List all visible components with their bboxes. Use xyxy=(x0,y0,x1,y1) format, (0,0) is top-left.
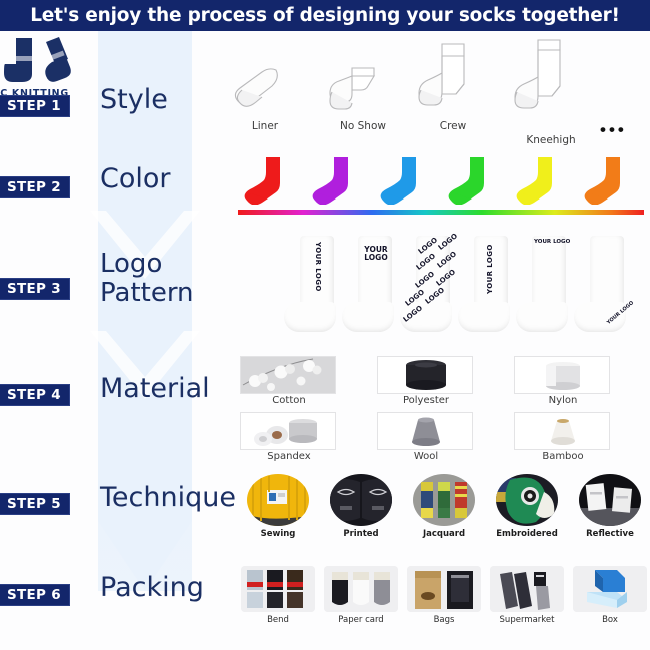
socks-customization-infographic: Let's enjoy the process of designing you… xyxy=(0,0,650,650)
step-row-color: STEP 2 Color xyxy=(0,155,650,217)
banded-socks-icon xyxy=(241,566,315,612)
material-caption: Bamboo xyxy=(514,451,612,462)
color-swatch-green[interactable] xyxy=(442,155,498,205)
color-swatch-orange[interactable] xyxy=(578,155,634,205)
material-option-bamboo[interactable]: Bamboo xyxy=(514,412,612,462)
bags-icon xyxy=(407,566,481,612)
step-label-line1: Logo xyxy=(100,250,194,279)
color-swatch-red[interactable] xyxy=(238,155,294,205)
step-label-style: Style xyxy=(100,86,168,114)
step-badge-1: STEP 1 xyxy=(0,95,70,117)
step-label-logo-pattern: Logo Pattern xyxy=(100,250,194,308)
step-label-line2: Pattern xyxy=(100,279,194,308)
style-caption: Crew xyxy=(418,120,488,132)
style-option-noshow[interactable]: No Show xyxy=(326,56,400,132)
style-option-liner[interactable]: Liner xyxy=(232,60,298,132)
supermarket-hanger-icon xyxy=(490,566,564,612)
logo-text: YOUR LOGO xyxy=(486,244,494,294)
style-caption: No Show xyxy=(326,120,400,132)
wool-cone-icon xyxy=(377,412,473,450)
technique-options: Sewing Printed xyxy=(238,474,650,546)
packing-caption: Box xyxy=(570,615,650,625)
embroidered-patch-icon xyxy=(496,474,558,526)
spandex-rolls-icon xyxy=(240,412,336,450)
technique-caption: Jacquard xyxy=(404,529,484,539)
color-swatches xyxy=(238,155,650,207)
cotton-boll-icon xyxy=(240,356,336,394)
reflective-strip-icon xyxy=(579,474,641,526)
rainbow-gradient-bar xyxy=(238,210,644,215)
style-caption: Kneehigh xyxy=(510,134,592,146)
step-badge-6: STEP 6 xyxy=(0,584,70,606)
polyester-spool-icon xyxy=(377,356,473,394)
jacquard-socks-icon xyxy=(413,474,475,526)
sock-crew-outline-icon xyxy=(418,38,488,118)
style-option-kneehigh[interactable]: Kneehigh xyxy=(510,26,592,146)
material-options: Cotton Polyester xyxy=(240,352,650,464)
material-option-nylon[interactable]: Nylon xyxy=(514,356,612,406)
technique-option-embroidered[interactable]: Embroidered xyxy=(487,474,567,539)
step-row-technique: STEP 5 Technique Sewing xyxy=(0,474,650,550)
packing-option-bend[interactable]: Bend xyxy=(238,566,318,625)
material-caption: Spandex xyxy=(240,451,338,462)
technique-option-reflective[interactable]: Reflective xyxy=(570,474,650,539)
packing-options: Bend Paper card xyxy=(238,562,650,634)
step-row-style: STEP 1 Style Liner No Show xyxy=(0,38,650,142)
sewing-label-icon xyxy=(247,474,309,526)
packing-caption: Bags xyxy=(404,615,484,625)
technique-caption: Reflective xyxy=(570,529,650,539)
technique-caption: Embroidered xyxy=(487,529,567,539)
step-label-color: Color xyxy=(100,165,171,193)
material-option-polyester[interactable]: Polyester xyxy=(377,356,475,406)
step-label-material: Material xyxy=(100,375,210,403)
step-badge-4: STEP 4 xyxy=(0,384,70,406)
packing-caption: Bend xyxy=(238,615,318,625)
logo-text: YOUR LOGO xyxy=(534,239,564,245)
technique-option-sewing[interactable]: Sewing xyxy=(238,474,318,539)
color-swatch-purple[interactable] xyxy=(306,155,362,205)
technique-option-jacquard[interactable]: Jacquard xyxy=(404,474,484,539)
packing-caption: Paper card xyxy=(321,615,401,625)
step-row-packing: STEP 6 Packing xyxy=(0,562,650,642)
material-caption: Polyester xyxy=(377,395,475,406)
color-swatch-yellow[interactable] xyxy=(510,155,566,205)
style-options: Liner No Show xyxy=(228,38,650,143)
sock-liner-outline-icon xyxy=(232,60,298,118)
style-caption: Liner xyxy=(232,120,298,132)
sock-kneehigh-outline-icon xyxy=(510,26,592,120)
more-styles-ellipsis[interactable]: ••• xyxy=(600,120,627,140)
sock-noshow-outline-icon xyxy=(326,56,400,118)
paper-card-icon xyxy=(324,566,398,612)
box-icon xyxy=(573,566,647,612)
material-option-spandex[interactable]: Spandex xyxy=(240,412,338,462)
technique-option-printed[interactable]: Printed xyxy=(321,474,401,539)
step-row-material: STEP 4 Material Cotton xyxy=(0,352,650,468)
logo-text: YOUR LOGO xyxy=(314,242,322,292)
step-badge-3: STEP 3 xyxy=(0,278,70,300)
technique-caption: Printed xyxy=(321,529,401,539)
nylon-spool-icon xyxy=(514,356,610,394)
color-swatch-blue[interactable] xyxy=(374,155,430,205)
bamboo-cone-icon xyxy=(514,412,610,450)
packing-option-bags[interactable]: Bags xyxy=(404,566,484,625)
material-option-wool[interactable]: Wool xyxy=(377,412,475,462)
material-option-cotton[interactable]: Cotton xyxy=(240,356,338,406)
packing-caption: Supermarket xyxy=(487,615,567,625)
logo-pattern-options: YOUR LOGO YOURLOGO LOGO LOGO LOGO LOGO L… xyxy=(282,228,650,336)
step-label-packing: Packing xyxy=(100,574,204,602)
packing-option-box[interactable]: Box xyxy=(570,566,650,625)
material-caption: Wool xyxy=(377,451,475,462)
step-row-logo-pattern: STEP 3 Logo Pattern YOUR LOGO YOURLOGO L… xyxy=(0,228,650,340)
logo-sock-heel[interactable]: YOUR LOGO xyxy=(590,236,642,336)
logo-text: YOURLOGO xyxy=(361,246,391,263)
material-caption: Nylon xyxy=(514,395,612,406)
packing-option-paper-card[interactable]: Paper card xyxy=(321,566,401,625)
step-badge-5: STEP 5 xyxy=(0,493,70,515)
page-title: Let's enjoy the process of designing you… xyxy=(30,5,620,26)
step-label-technique: Technique xyxy=(100,484,236,512)
material-caption: Cotton xyxy=(240,395,338,406)
packing-option-supermarket[interactable]: Supermarket xyxy=(487,566,567,625)
printed-socks-icon xyxy=(330,474,392,526)
step-badge-2: STEP 2 xyxy=(0,176,70,198)
style-option-crew[interactable]: Crew xyxy=(418,38,488,132)
technique-caption: Sewing xyxy=(238,529,318,539)
